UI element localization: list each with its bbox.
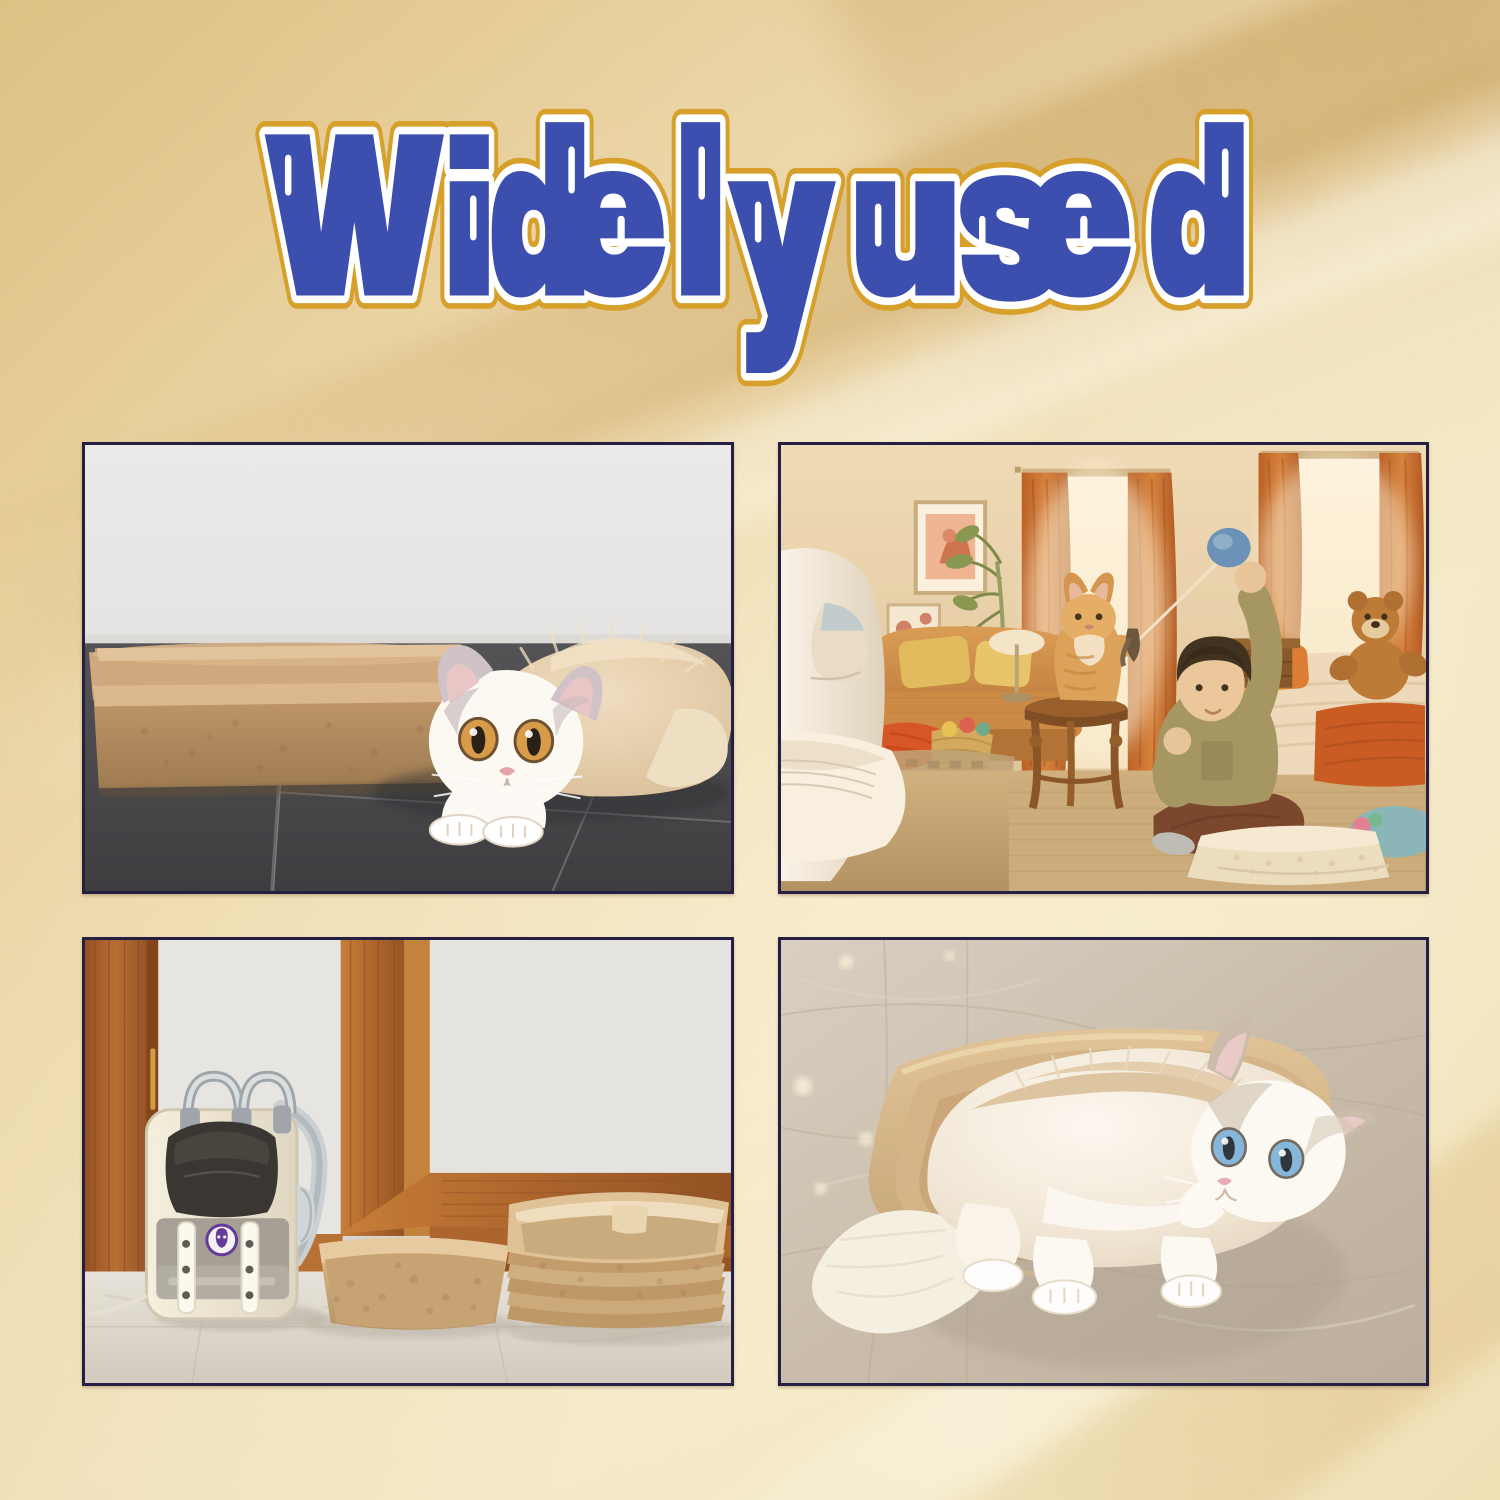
scene-cat-in-tray-overhead — [781, 940, 1426, 1383]
scene-litterbox-with-cat — [85, 445, 731, 891]
scene-carrier-and-trays — [85, 940, 731, 1383]
headline-lettering — [250, 108, 1250, 318]
scene-living-room-play — [781, 445, 1426, 891]
page-title: Widely used — [0, 108, 1500, 318]
panel-top-left[interactable]: Cream pulp litter box on dark gray tile … — [82, 442, 734, 894]
panel-bottom-right[interactable]: Overhead view of a fluffy cream and whit… — [778, 937, 1429, 1386]
poster-canvas: Widely used — [0, 0, 1500, 1500]
panel-bottom-left[interactable]: Cream and gray pet carrier backpack with… — [82, 937, 734, 1386]
panel-top-right[interactable]: Warm living room where a person sits cro… — [778, 442, 1429, 894]
